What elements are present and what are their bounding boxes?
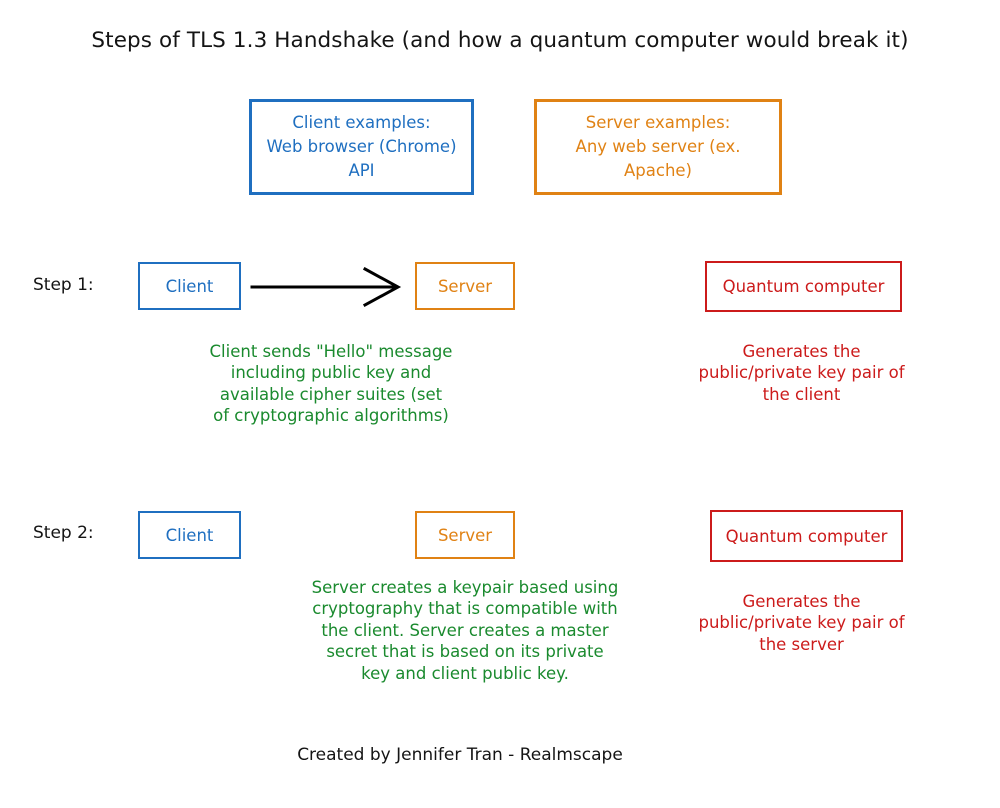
step-2-label: Step 2: [33, 523, 94, 544]
step-1-server-box: Server [415, 262, 515, 310]
step-2-client-box: Client [138, 511, 241, 559]
footer-credit: Created by Jennifer Tran - Realmscape [0, 745, 1000, 766]
server-examples-text: Server examples: Any web server (ex. Apa… [576, 111, 741, 184]
step-2-quantum-computer-label: Quantum computer [726, 527, 888, 546]
page-title: Steps of TLS 1.3 Handshake (and how a qu… [0, 28, 1000, 55]
server-examples-box: Server examples: Any web server (ex. Apa… [534, 99, 782, 195]
step-1-quantum-computer-label: Quantum computer [723, 277, 885, 296]
step-1-client-description: Client sends "Hello" message including p… [176, 341, 486, 427]
step-2-server-description: Server creates a keypair based using cry… [289, 577, 641, 684]
step-1-quantum-computer-box: Quantum computer [705, 261, 902, 312]
step-2-server-box: Server [415, 511, 515, 559]
step-1-client-box: Client [138, 262, 241, 310]
step-2-server-label: Server [438, 526, 492, 545]
client-examples-box: Client examples: Web browser (Chrome) AP… [249, 99, 474, 195]
step-2-quantum-computer-box: Quantum computer [710, 510, 903, 562]
step-1-client-label: Client [166, 277, 214, 296]
step-2-quantum-description: Generates the public/private key pair of… [664, 591, 939, 655]
step-2-client-label: Client [166, 526, 214, 545]
step-1-server-label: Server [438, 277, 492, 296]
client-examples-text: Client examples: Web browser (Chrome) AP… [266, 111, 456, 184]
step-1-label: Step 1: [33, 275, 94, 296]
step-1-client-to-server-arrow [248, 265, 403, 309]
step-1-quantum-description: Generates the public/private key pair of… [664, 341, 939, 405]
diagram-canvas: Steps of TLS 1.3 Handshake (and how a qu… [0, 0, 1000, 808]
